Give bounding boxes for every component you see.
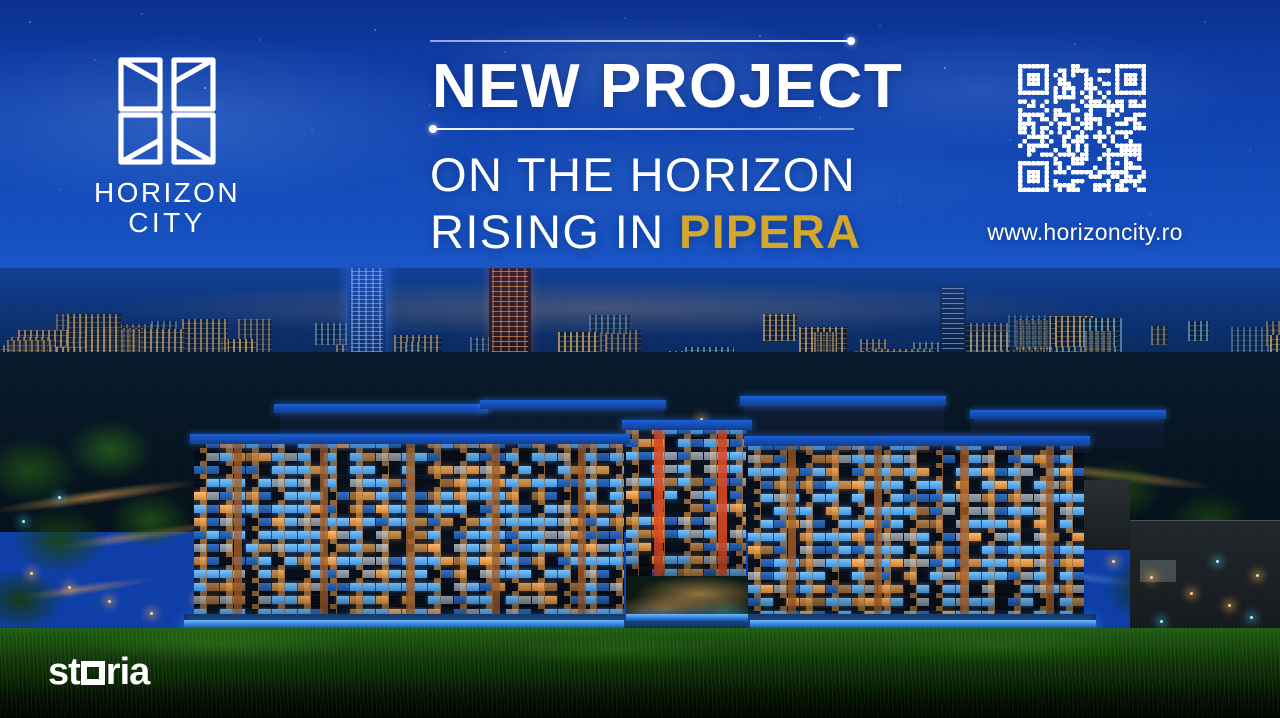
facade-center-wing <box>626 426 746 576</box>
logo-wordmark-line1: HORIZON <box>82 178 252 207</box>
street-lamp <box>1190 592 1193 595</box>
headline-title: NEW PROJECT <box>430 42 860 128</box>
facade-shading <box>194 440 624 630</box>
facade-shading <box>748 442 1084 628</box>
grass-vignette <box>0 628 1280 718</box>
residential-complex-render <box>184 398 1096 640</box>
storia-wordmark: stria <box>48 653 149 691</box>
qr-code-icon[interactable] <box>1018 64 1146 192</box>
storia-suffix: ria <box>106 653 149 691</box>
subtitle-line-2-prefix: RISING IN <box>430 205 679 258</box>
storia-watermark: stria <box>48 655 149 689</box>
subtitle-highlight-pipera: PIPERA <box>679 205 861 258</box>
storia-square-o-icon <box>81 661 105 685</box>
headline-block: NEW PROJECT ON THE HORIZON RISING IN PIP… <box>430 40 860 261</box>
rule-dot-left <box>429 125 437 133</box>
parapet-back-left <box>274 404 488 413</box>
website-url[interactable]: www.horizoncity.ro <box>960 219 1210 246</box>
headline-rule-bottom <box>430 128 854 130</box>
parapet-back-left2 <box>480 400 666 409</box>
street-lamp <box>150 612 153 615</box>
street-lamp-cool <box>58 496 61 499</box>
subtitle-line-2: RISING IN PIPERA <box>430 203 860 260</box>
plinth-light-center <box>626 614 748 623</box>
street-lamp <box>1228 604 1231 607</box>
street-lamp <box>1112 560 1115 563</box>
horizon-butterfly-mark-icon <box>82 52 252 170</box>
advertisement-banner: HORIZON CITY NEW PROJECT ON THE HORIZON … <box>0 0 1280 718</box>
rule-dot-right <box>847 37 855 45</box>
street-lamp-cool <box>1216 560 1219 563</box>
street-lamp <box>1150 576 1153 579</box>
parapet-back-right <box>970 410 1166 419</box>
parapet-back-center <box>740 396 946 406</box>
street-lamp <box>30 572 33 575</box>
facade-left-wing <box>194 440 624 630</box>
parapet-center <box>622 420 752 430</box>
street-lamp <box>1256 574 1259 577</box>
headline-rule-top <box>430 40 854 42</box>
subtitle-line-1: ON THE HORIZON <box>430 146 860 203</box>
parapet-left <box>190 434 630 444</box>
street-lamp <box>68 586 71 589</box>
storia-prefix: st <box>48 653 80 691</box>
facade-shading <box>626 426 746 576</box>
parapet-right <box>744 436 1090 446</box>
logo-wordmark-line2: CITY <box>82 207 252 239</box>
horizon-city-logo[interactable]: HORIZON CITY <box>82 52 252 240</box>
street-lamp <box>108 600 111 603</box>
street-lamp-cool <box>1160 620 1163 623</box>
street-lamp-cool <box>22 520 25 523</box>
facade-right-wing <box>748 442 1084 628</box>
street-lamp-cool <box>1250 616 1253 619</box>
headline-subtitle: ON THE HORIZON RISING IN PIPERA <box>430 146 860 261</box>
grass-foreground <box>0 628 1280 718</box>
